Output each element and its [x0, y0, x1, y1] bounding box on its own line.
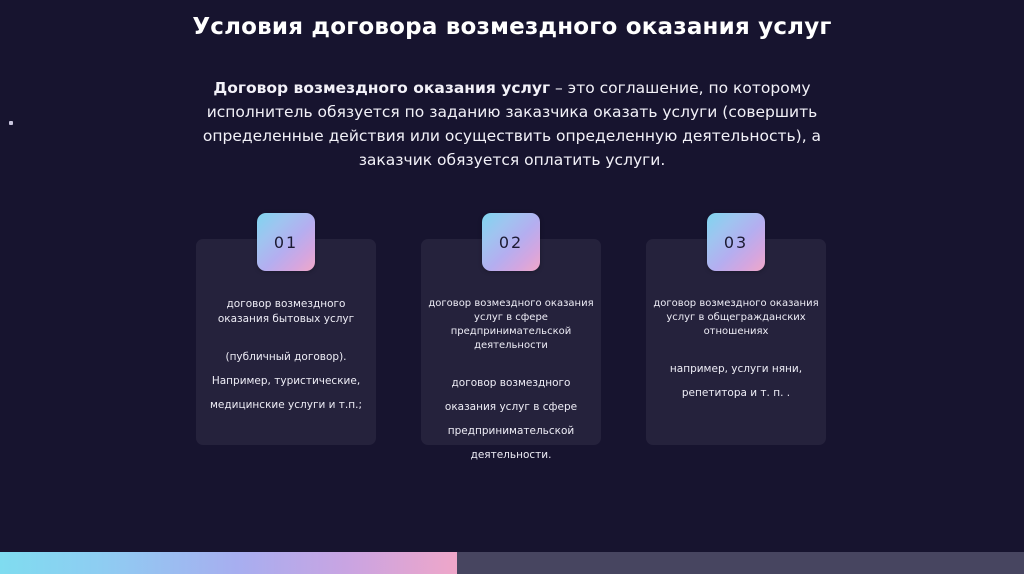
- slide-root: Условия договора возмездного оказания ус…: [0, 0, 1024, 574]
- intro-paragraph: Договор возмездного оказания услуг – это…: [176, 76, 848, 172]
- card-body-text: (публичный договор). Например, туристиче…: [202, 345, 370, 417]
- page-title: Условия договора возмездного оказания ус…: [180, 14, 844, 41]
- card-body-text: например, услуги няни, репетитора и т. п…: [652, 357, 820, 405]
- card-number-badge: 02: [482, 213, 540, 271]
- intro-bold-lead: Договор возмездного оказания услуг: [213, 79, 550, 97]
- card-heading: договор возмездного оказания бытовых усл…: [202, 297, 370, 327]
- left-margin-dot: [9, 121, 13, 125]
- card-group: договор возмездного оказания бытовых усл…: [196, 213, 826, 453]
- card-heading: договор возмездного оказания услуг в общ…: [652, 297, 820, 339]
- card-number-badge: 03: [707, 213, 765, 271]
- progress-bar-track[interactable]: [0, 552, 1024, 574]
- card-heading: договор возмездного оказания услуг в сфе…: [427, 297, 595, 353]
- card-content: договор возмездного оказания услуг в сфе…: [427, 297, 595, 467]
- card-body-text: договор возмездного оказания услуг в сфе…: [427, 371, 595, 467]
- card-content: договор возмездного оказания услуг в общ…: [652, 297, 820, 405]
- card-content: договор возмездного оказания бытовых усл…: [202, 297, 370, 417]
- card-number-badge: 01: [257, 213, 315, 271]
- progress-bar-fill: [0, 552, 457, 574]
